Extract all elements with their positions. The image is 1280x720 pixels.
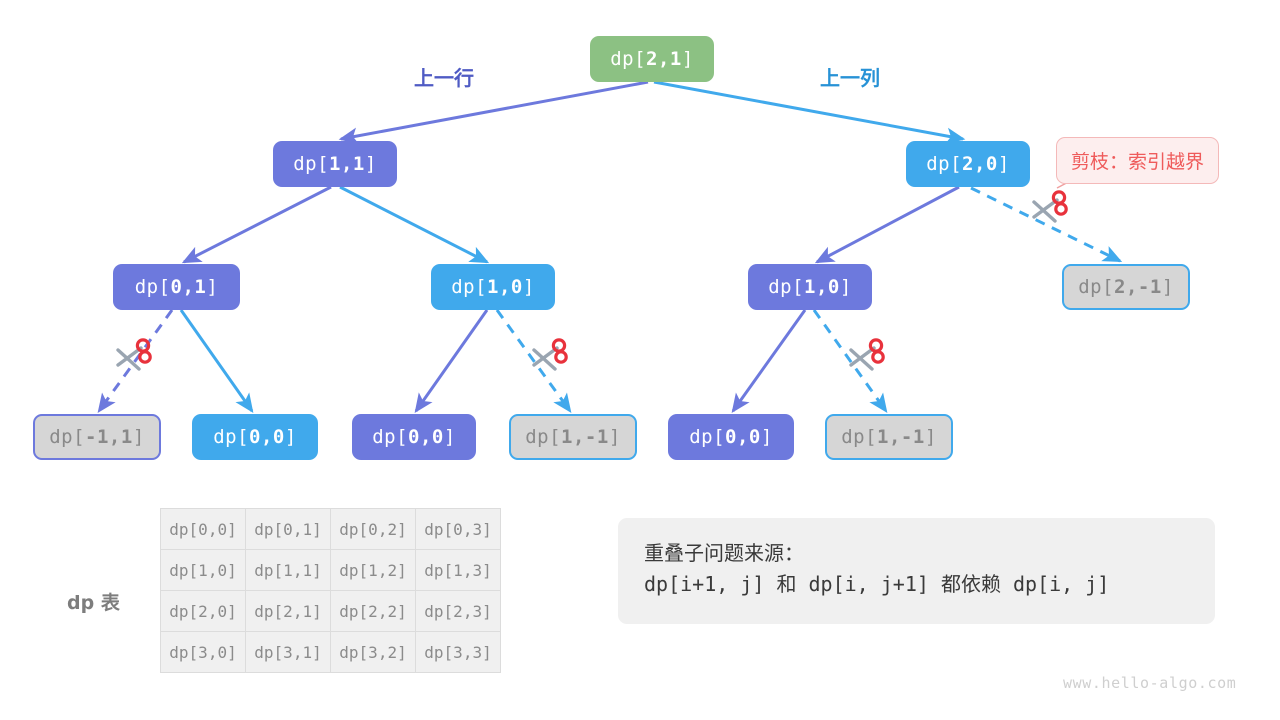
tree-node-l3f: dp[1,-1] <box>825 414 953 460</box>
dp-cell-3-0: dp[3,0] <box>161 632 245 672</box>
node-label-suffix: ] <box>133 426 145 448</box>
dp-cell-0-2: dp[0,2] <box>331 509 415 549</box>
node-label-index: 0,0 <box>249 426 285 448</box>
node-label-suffix: ] <box>1162 276 1174 298</box>
scissors-icon-0 <box>1028 190 1068 230</box>
dp-table: dp[0,0]dp[0,1]dp[0,2]dp[0,3]dp[1,0]dp[1,… <box>160 508 501 673</box>
node-label-prefix: dp[ <box>49 426 85 448</box>
dp-cell-3-1: dp[3,1] <box>246 632 330 672</box>
node-label-prefix: dp[ <box>1078 276 1114 298</box>
node-label-suffix: ] <box>609 426 621 448</box>
node-label-prefix: dp[ <box>689 426 725 448</box>
node-label-prefix: dp[ <box>841 426 877 448</box>
table-row: dp[3,0]dp[3,1]dp[3,2]dp[3,3] <box>161 632 500 672</box>
dp-cell-1-1: dp[1,1] <box>246 550 330 590</box>
tree-node-l2c: dp[1,0] <box>748 264 872 310</box>
dp-cell-1-3: dp[1,3] <box>416 550 500 590</box>
dp-cell-2-0: dp[2,0] <box>161 591 245 631</box>
node-label-suffix: ] <box>444 426 456 448</box>
node-label-suffix: ] <box>840 276 852 298</box>
node-label-index: 1,1 <box>329 153 365 175</box>
tree-node-l3c: dp[0,0] <box>352 414 476 460</box>
dp-cell-0-0: dp[0,0] <box>161 509 245 549</box>
dp-cell-1-0: dp[1,0] <box>161 550 245 590</box>
tree-node-l2d: dp[2,-1] <box>1062 264 1190 310</box>
table-row: dp[1,0]dp[1,1]dp[1,2]dp[1,3] <box>161 550 500 590</box>
node-label-index: 0,0 <box>408 426 444 448</box>
diagram-canvas: dp[2,1]dp[1,1]dp[2,0]dp[0,1]dp[1,0]dp[1,… <box>0 0 1280 720</box>
tree-node-l1b: dp[2,0] <box>906 141 1030 187</box>
node-label-index: 2,-1 <box>1114 276 1162 298</box>
node-label-index: -1,1 <box>85 426 133 448</box>
tree-node-l3a: dp[-1,1] <box>33 414 161 460</box>
prune-callout: 剪枝：索引越界 <box>1056 137 1219 184</box>
tree-node-l2a: dp[0,1] <box>113 264 240 310</box>
tree-node-l3b: dp[0,0] <box>192 414 318 460</box>
node-label-prefix: dp[ <box>451 276 487 298</box>
dp-cell-2-3: dp[2,3] <box>416 591 500 631</box>
dp-cell-2-2: dp[2,2] <box>331 591 415 631</box>
node-label-index: 0,1 <box>171 276 207 298</box>
node-label-index: 1,0 <box>804 276 840 298</box>
tree-node-l3d: dp[1,-1] <box>509 414 637 460</box>
scissors-icon-2 <box>528 338 568 378</box>
node-label-index: 2,0 <box>962 153 998 175</box>
note-line-2: dp[i+1, j] 和 dp[i, j+1] 都依赖 dp[i, j] <box>644 569 1189 600</box>
node-label-index: 1,-1 <box>561 426 609 448</box>
node-label-suffix: ] <box>365 153 377 175</box>
dp-cell-3-2: dp[3,2] <box>331 632 415 672</box>
node-label-suffix: ] <box>998 153 1010 175</box>
tree-node-root: dp[2,1] <box>590 36 714 82</box>
node-label-prefix: dp[ <box>372 426 408 448</box>
dp-cell-2-1: dp[2,1] <box>246 591 330 631</box>
node-label-suffix: ] <box>523 276 535 298</box>
node-label-prefix: dp[ <box>926 153 962 175</box>
tree-node-l2b: dp[1,0] <box>431 264 555 310</box>
node-label-suffix: ] <box>206 276 218 298</box>
node-label-prefix: dp[ <box>525 426 561 448</box>
node-label-index: 2,1 <box>646 48 682 70</box>
note-line-1: 重叠子问题来源： <box>644 538 1189 569</box>
scissors-icon-3 <box>845 338 885 378</box>
node-label-prefix: dp[ <box>135 276 171 298</box>
dp-cell-1-2: dp[1,2] <box>331 550 415 590</box>
node-label-suffix: ] <box>682 48 694 70</box>
node-label-prefix: dp[ <box>610 48 646 70</box>
dp-table-caption: dp 表 <box>67 588 120 615</box>
overlapping-subproblem-note: 重叠子问题来源： dp[i+1, j] 和 dp[i, j+1] 都依赖 dp[… <box>618 518 1215 624</box>
table-row: dp[0,0]dp[0,1]dp[0,2]dp[0,3] <box>161 509 500 549</box>
node-label-suffix: ] <box>761 426 773 448</box>
edge-label-1: 上一列 <box>820 62 880 91</box>
edge-label-0: 上一行 <box>414 62 474 91</box>
node-label-index: 1,-1 <box>877 426 925 448</box>
dp-cell-0-3: dp[0,3] <box>416 509 500 549</box>
table-row: dp[2,0]dp[2,1]dp[2,2]dp[2,3] <box>161 591 500 631</box>
node-label-prefix: dp[ <box>213 426 249 448</box>
node-label-prefix: dp[ <box>768 276 804 298</box>
node-label-prefix: dp[ <box>293 153 329 175</box>
node-label-index: 0,0 <box>725 426 761 448</box>
node-label-index: 1,0 <box>487 276 523 298</box>
dp-cell-0-1: dp[0,1] <box>246 509 330 549</box>
scissors-icon-1 <box>112 338 152 378</box>
tree-node-l1a: dp[1,1] <box>273 141 397 187</box>
dp-cell-3-3: dp[3,3] <box>416 632 500 672</box>
tree-node-l3e: dp[0,0] <box>668 414 794 460</box>
node-label-suffix: ] <box>285 426 297 448</box>
node-label-suffix: ] <box>925 426 937 448</box>
watermark: www.hello-algo.com <box>1063 674 1236 692</box>
